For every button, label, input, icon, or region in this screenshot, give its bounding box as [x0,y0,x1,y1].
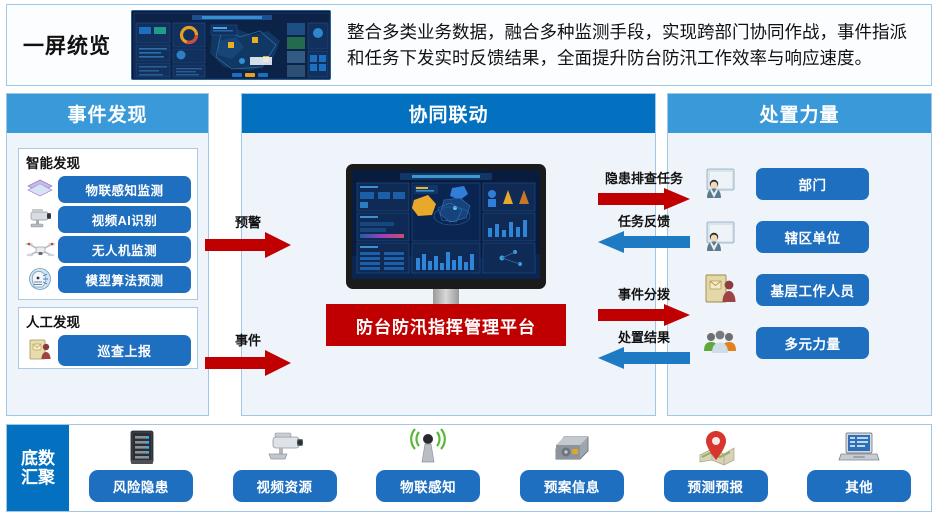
arrow-label-early-warning: 预警 [205,212,291,231]
arrow-disposal-result: 处置结果 [598,327,690,369]
cctv-camera-icon [259,427,311,467]
arrow-label-event-dispatch: 事件分拨 [598,284,690,303]
base-data-title-line1: 底数 [21,449,55,468]
list-item[interactable]: 物联感知 [356,425,500,511]
person-report-folder-icon [25,337,55,363]
base-data-title-line2: 汇聚 [21,468,55,487]
list-item[interactable]: 视频AI识别 [19,204,197,234]
infographic-root: 一屏统览 [0,0,938,517]
column-event-discovery: 事件发现 智能发现 物联感知监测 [6,93,209,416]
arrow-left-blue-icon [598,347,690,369]
arrow-right-red-icon [205,350,291,376]
button-video-resource[interactable]: 视频资源 [233,470,337,502]
drone-icon [25,236,55,262]
list-item[interactable]: 多元力量 [668,316,931,369]
arrow-label-hazard-inspection-task: 隐患排查任务 [598,168,690,187]
map-pin-icon [690,427,742,467]
button-video-ai[interactable]: 视频AI识别 [58,206,191,233]
column-title-forces: 处置力量 [668,94,931,133]
list-item[interactable]: 部门 [668,157,931,210]
button-plan-information[interactable]: 预案信息 [520,470,624,502]
button-drone-monitoring[interactable]: 无人机监测 [58,236,191,263]
list-item[interactable]: 模型算法预测 [19,264,197,294]
base-data-bar: 底数 汇聚 [6,424,932,512]
group-title-manual: 人工发现 [19,308,197,333]
arrow-label-event: 事件 [205,330,291,349]
dashboard-screenshot-icon [131,10,331,80]
button-forecast[interactable]: 预测预报 [664,470,768,502]
arrow-right-red-icon [205,232,291,258]
banner-description: 整合多类业务数据，融合多种监测手段，实现跨部门协同作战，事件指派和任务下发实时反… [331,19,931,72]
button-grassroots-staff[interactable]: 基层工作人员 [756,274,869,306]
list-item[interactable]: 其他 [787,425,931,511]
list-item[interactable]: 视频资源 [213,425,357,511]
arrow-early-warning: 预警 [205,212,291,258]
base-data-title: 底数 汇聚 [7,425,69,511]
server-rack-icon [115,427,167,467]
laptop-icon [833,427,885,467]
arrow-event: 事件 [205,330,291,376]
button-multiple-forces[interactable]: 多元力量 [756,327,869,359]
button-risk-hazard[interactable]: 风险隐患 [89,470,193,502]
cctv-camera-icon [25,206,55,232]
list-item[interactable]: 风险隐患 [69,425,213,511]
list-item[interactable]: 预案信息 [500,425,644,511]
wireless-signal-icon [402,427,454,467]
hard-disk-icon [546,427,598,467]
banner-title: 一屏统览 [7,30,127,60]
arrow-event-dispatch: 事件分拨 [598,284,690,326]
arrow-label-task-feedback: 任务反馈 [598,211,690,230]
button-jurisdiction-unit[interactable]: 辖区单位 [756,221,869,253]
list-item[interactable]: 无人机监测 [19,234,197,264]
platform-label: 防台防汛指挥管理平台 [326,304,566,346]
person-folder-icon [700,217,744,257]
button-other[interactable]: 其他 [807,470,911,502]
person-door-icon [700,270,744,310]
arrow-left-blue-icon [598,231,690,253]
group-intelligent-discovery: 智能发现 物联感知监测 [18,148,198,300]
person-folder-icon [700,164,744,204]
list-item[interactable]: 预测预报 [644,425,788,511]
overview-banner: 一屏统览 [6,4,932,86]
base-data-items: 风险隐患 视频资源 [69,425,931,511]
arrow-label-disposal-result: 处置结果 [598,327,690,346]
column-title-collaboration: 协同联动 [242,94,655,133]
arrow-right-red-icon [598,188,690,210]
column-collaboration: 协同联动 [241,93,656,416]
list-item[interactable]: 物联感知监测 [19,174,197,204]
ai-model-head-icon [25,266,55,292]
group-title-intelligent: 智能发现 [19,149,197,174]
button-patrol-report[interactable]: 巡查上报 [58,335,191,366]
button-department[interactable]: 部门 [756,168,869,200]
column-response-forces: 处置力量 部门 [667,93,932,416]
button-iot-monitoring[interactable]: 物联感知监测 [58,176,191,203]
list-item[interactable]: 基层工作人员 [668,263,931,316]
column-title-discovery: 事件发现 [7,94,208,133]
arrow-task-feedback: 任务反馈 [598,211,690,253]
arrow-hazard-inspection-task: 隐患排查任务 [598,168,690,210]
group-manual-discovery: 人工发现 巡查上报 [18,307,198,369]
list-item[interactable]: 辖区单位 [668,210,931,263]
arrow-right-red-icon [598,304,690,326]
button-iot-sensing[interactable]: 物联感知 [376,470,480,502]
group-people-icon [700,323,744,363]
button-model-prediction[interactable]: 模型算法预测 [58,266,191,293]
list-item[interactable]: 巡查上报 [19,333,197,367]
iot-sensor-layers-icon [25,176,55,202]
desktop-monitor-dashboard-icon [346,164,546,315]
